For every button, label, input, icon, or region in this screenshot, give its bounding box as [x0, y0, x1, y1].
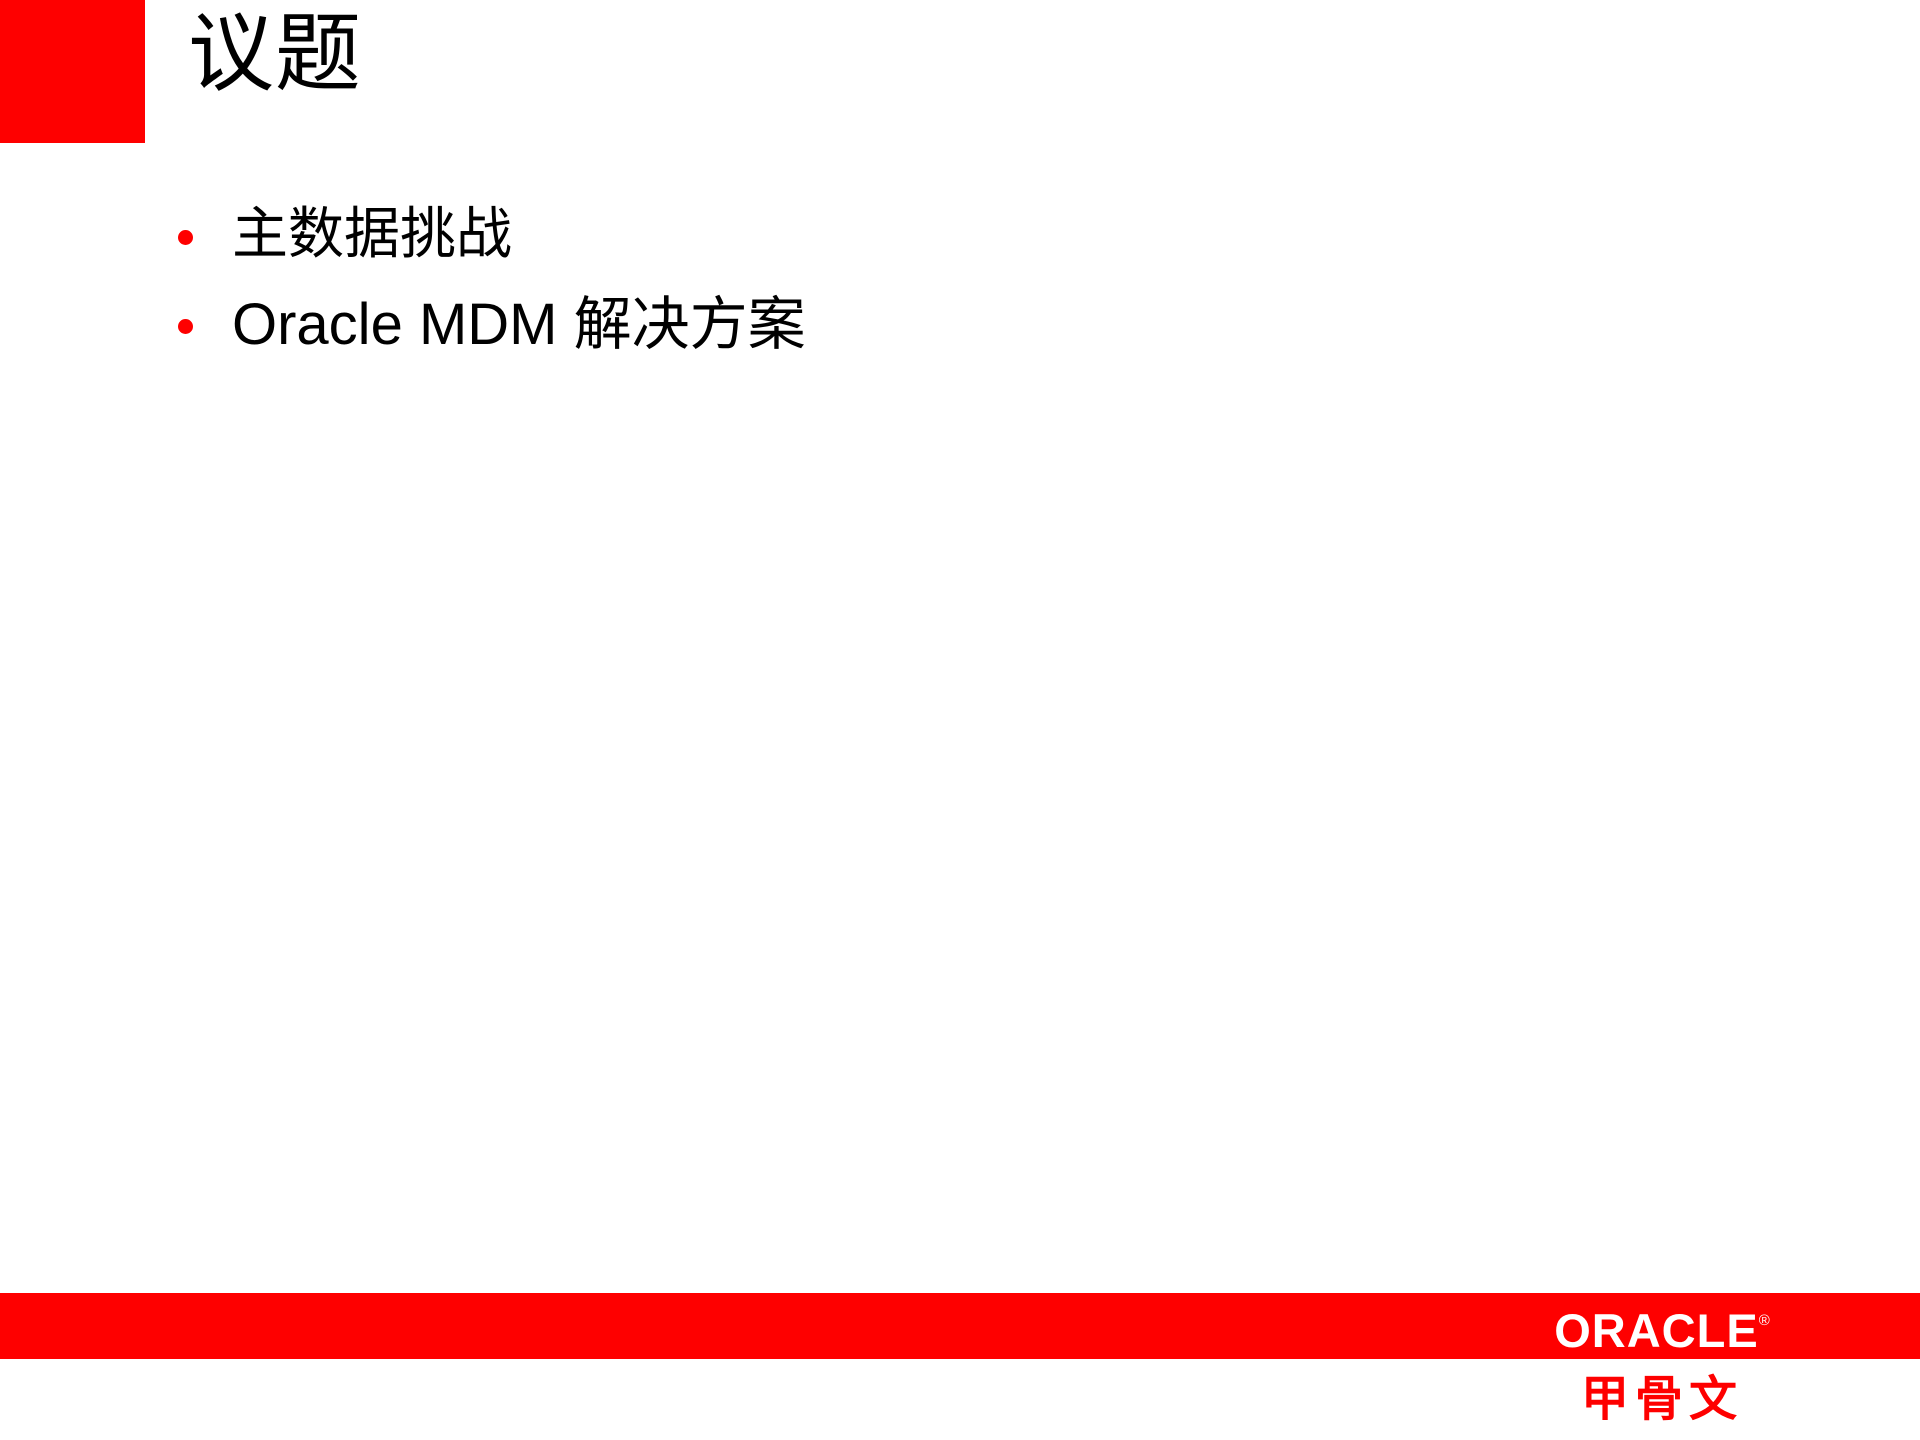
oracle-wordmark: ORACLE® — [1537, 1307, 1787, 1354]
slide-canvas: 议题 主数据挑战 Oracle MDM 解决方案 ORACLE® 甲骨文 — [0, 0, 1920, 1440]
logo-divider — [1539, 1363, 1785, 1366]
oracle-wordmark-text: ORACLE — [1554, 1304, 1758, 1357]
list-item: Oracle MDM 解决方案 — [178, 285, 1738, 365]
agenda-bullet-list: 主数据挑战 Oracle MDM 解决方案 — [178, 196, 1738, 377]
list-item: 主数据挑战 — [178, 196, 1738, 273]
page-title: 议题 — [188, 6, 362, 102]
bullet-dot-icon — [178, 319, 193, 334]
bullet-dot-icon — [178, 230, 193, 245]
corner-accent-block — [0, 0, 145, 143]
registered-trademark-icon: ® — [1759, 1312, 1770, 1329]
list-item-label: 主数据挑战 — [232, 196, 1738, 273]
oracle-logo: ORACLE® 甲骨文 — [1537, 1293, 1787, 1440]
list-item-label: Oracle MDM 解决方案 — [232, 285, 1738, 365]
oracle-chinese-name: 甲骨文 — [1537, 1373, 1787, 1427]
